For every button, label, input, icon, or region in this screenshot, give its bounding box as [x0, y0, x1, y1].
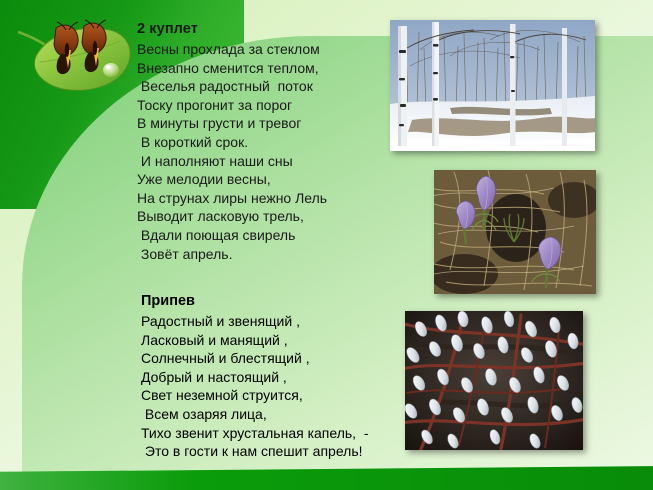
verse-line: Тоску прогонит за порог [137, 96, 407, 115]
verse-line: В минуты грусти и тревог [137, 114, 407, 133]
verse-line: В короткий срок. [137, 133, 407, 152]
chorus-text-block: Припев Радостный и звенящий , Ласковый и… [137, 292, 427, 461]
verse-line: Выводит ласковую трель, [137, 207, 407, 226]
chorus-line: Тихо звенит хрустальная капель, - [141, 424, 427, 443]
verse-heading: 2 куплет [137, 20, 407, 39]
chorus-line: Солнечный и блестящий , [141, 349, 427, 368]
verse-line: Зовёт апрель. [137, 245, 407, 264]
verse-line: Вдали поющая свирель [137, 226, 407, 245]
chorus-heading: Припев [141, 292, 427, 311]
verse-line: На струнах лиры нежно Лель [137, 189, 407, 208]
chorus-line: Это в гости к нам спешит апрель! [141, 442, 427, 461]
photo-birches [390, 20, 595, 151]
chorus-line: Свет неземной струится, [141, 386, 427, 405]
two-butterflies-on-leaf-icon [14, 8, 138, 104]
slide-canvas: 2 куплет Весны прохлада за стеклом Внеза… [0, 0, 653, 490]
chorus-line: Ласковый и манящий , [141, 331, 427, 350]
chorus-line: Радостный и звенящий , [141, 312, 427, 331]
verse-line: Внезапно сменится теплом, [137, 59, 407, 78]
verse-text-block: 2 куплет Весны прохлада за стеклом Внеза… [137, 20, 407, 263]
chorus-line: Всем озаряя лица, [141, 405, 427, 424]
verse-line: Уже мелодии весны, [137, 170, 407, 189]
verse-line: Веселья радостный поток [137, 77, 407, 96]
bottom-accent-band [0, 464, 653, 490]
photo-willow [405, 311, 583, 450]
verse-line: И наполняют наши сны [137, 152, 407, 171]
verse-line: Весны прохлада за стеклом [137, 40, 407, 59]
chorus-line: Добрый и настоящий , [141, 368, 427, 387]
photo-pasqueflowers [434, 170, 596, 294]
